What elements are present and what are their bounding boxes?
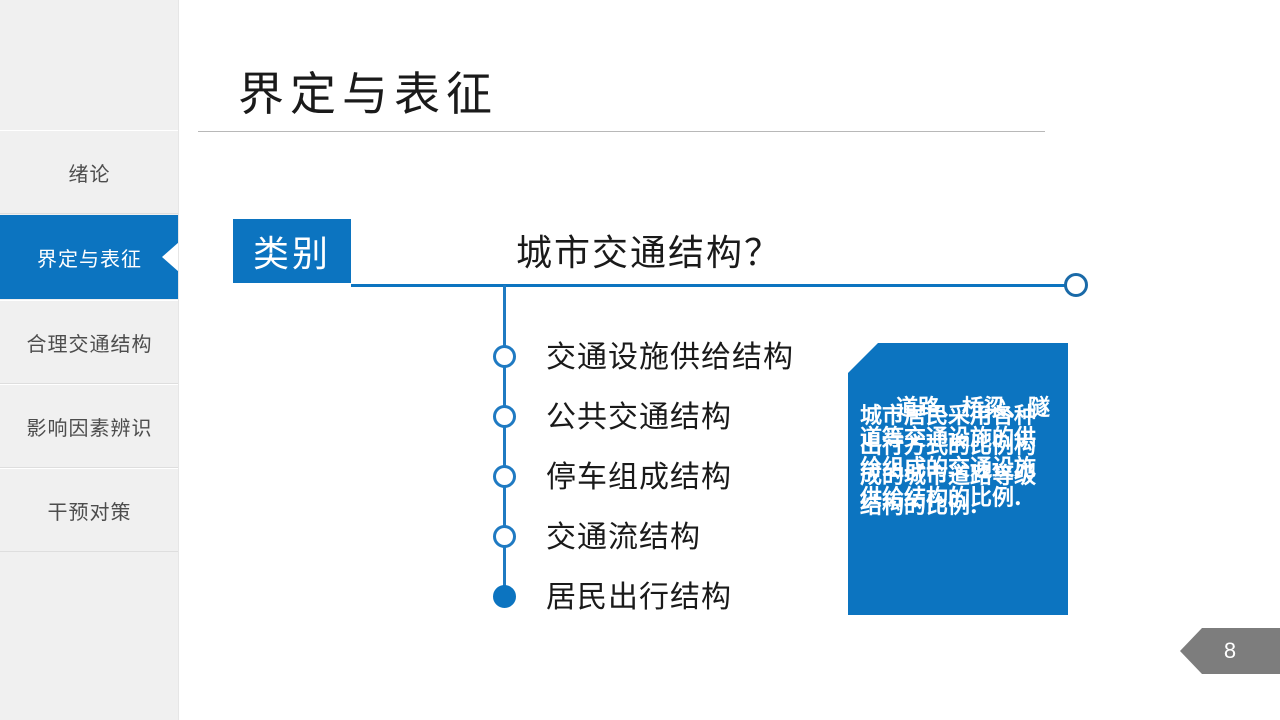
timeline-end-circle-icon [1064,273,1088,297]
page-number-label: 8 [1224,638,1236,664]
timeline-vertical-line [503,285,506,600]
question-heading: 城市交通结构？ [516,224,782,276]
page-title: 界定与表征 [238,58,498,124]
timeline-item[interactable]: 交通设施供给结构 [0,345,400,385]
timeline-item[interactable]: 交通流结构 [0,525,400,565]
category-badge: 类别 [233,219,351,283]
timeline-dot-icon [493,525,516,548]
sidebar-item-xulun[interactable]: 绪论 [0,130,179,214]
active-marker-icon [162,242,179,272]
timeline-item[interactable]: 居民出行结构 [0,585,400,625]
sidebar-item-label: 绪论 [69,158,111,187]
note-box: 道路、桥梁、隧道等交通设施的供给组成的交通设施供给结构的比例. 城市居民采用各种… [848,343,1068,615]
timeline-dot-icon [493,345,516,368]
timeline-dot-icon [493,585,516,608]
sidebar-item-jieding-yu-biaozheng[interactable]: 界定与表征 [0,215,179,299]
timeline-item-label: 停车组成结构 [546,452,732,496]
timeline-item[interactable]: 停车组成结构 [0,465,400,505]
timeline-item-label: 居民出行结构 [546,572,732,616]
sidebar-item-label: 界定与表征 [37,243,142,272]
timeline-item[interactable]: 公共交通结构 [0,405,400,445]
timeline-dot-icon [493,405,516,428]
slide: 绪论 界定与表征 合理交通结构 影响因素辨识 干预对策 界定与表征 类别 城市交… [0,0,1280,720]
timeline-horizontal-line [351,284,1076,287]
page-number-badge: 8 [1180,628,1280,674]
timeline-dot-icon [493,465,516,488]
category-badge-label: 类别 [253,225,331,277]
note-text-layer-2: 城市居民采用各种出行方式的比例构成的城市道路等级结构的比例. [848,343,1068,521]
timeline-item-label: 交通流结构 [546,512,701,556]
timeline-item-label: 公共交通结构 [546,392,732,436]
title-underline [198,131,1045,132]
timeline-item-label: 交通设施供给结构 [546,332,794,376]
